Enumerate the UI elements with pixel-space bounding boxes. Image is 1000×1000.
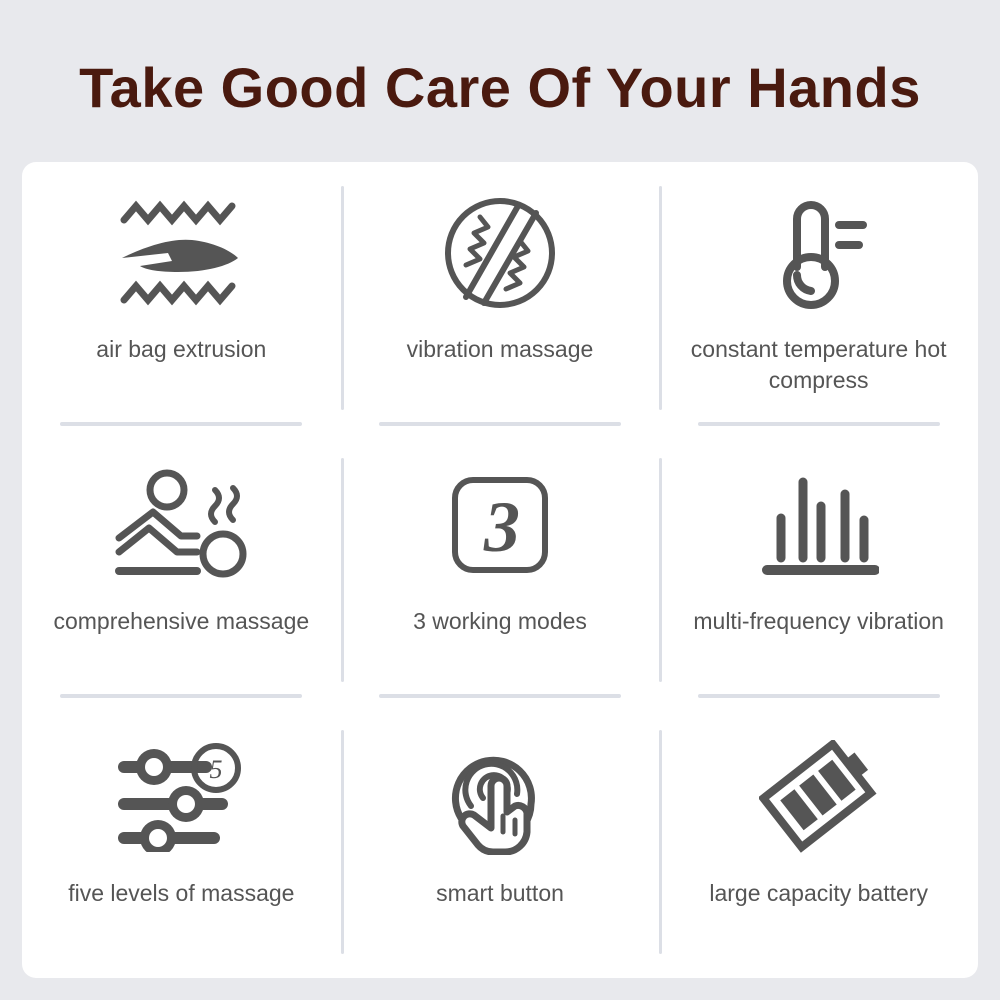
feature-label: large capacity battery [709, 878, 928, 909]
level-count-value: 5 [209, 755, 222, 784]
feature-cell-smart-button[interactable]: smart button [341, 706, 660, 978]
feature-label: comprehensive massage [53, 606, 309, 637]
feature-cell-five-levels[interactable]: 5 five levels of massage [22, 706, 341, 978]
vibration-circle-icon [440, 188, 560, 318]
feature-label: five levels of massage [68, 878, 294, 909]
feature-label: air bag extrusion [96, 334, 266, 365]
feature-label: smart button [436, 878, 564, 909]
feature-cell-multi-frequency[interactable]: multi-frequency vibration [659, 434, 978, 706]
feature-cell-working-modes[interactable]: 3 3 working modes [341, 434, 660, 706]
airbag-compression-icon [116, 188, 246, 318]
feature-label: 3 working modes [413, 606, 587, 637]
feature-label: multi-frequency vibration [693, 606, 944, 637]
feature-cell-vibration-massage[interactable]: vibration massage [341, 162, 660, 434]
feature-cell-air-bag-extrusion[interactable]: air bag extrusion [22, 162, 341, 434]
three-modes-icon: 3 [450, 460, 550, 590]
feature-label: vibration massage [407, 334, 594, 365]
feature-cell-hot-compress[interactable]: constant temperature hot compress [659, 162, 978, 434]
battery-icon [759, 732, 879, 862]
frequency-bars-icon [759, 460, 879, 590]
feature-label: constant temperature hot compress [678, 334, 958, 396]
feature-grid-page: Take Good Care Of Your Hands air bag ext… [0, 0, 1000, 1000]
feature-cell-battery[interactable]: large capacity battery [659, 706, 978, 978]
sliders-levels-icon: 5 [114, 732, 249, 862]
page-title: Take Good Care Of Your Hands [0, 60, 1000, 116]
features-card: air bag extrusion vibration massage [22, 162, 978, 978]
person-massage-icon [111, 460, 251, 590]
thermometer-icon [759, 188, 879, 318]
mode-count-value: 3 [483, 487, 520, 567]
feature-cell-comprehensive-massage[interactable]: comprehensive massage [22, 434, 341, 706]
touch-hand-icon [447, 732, 552, 862]
